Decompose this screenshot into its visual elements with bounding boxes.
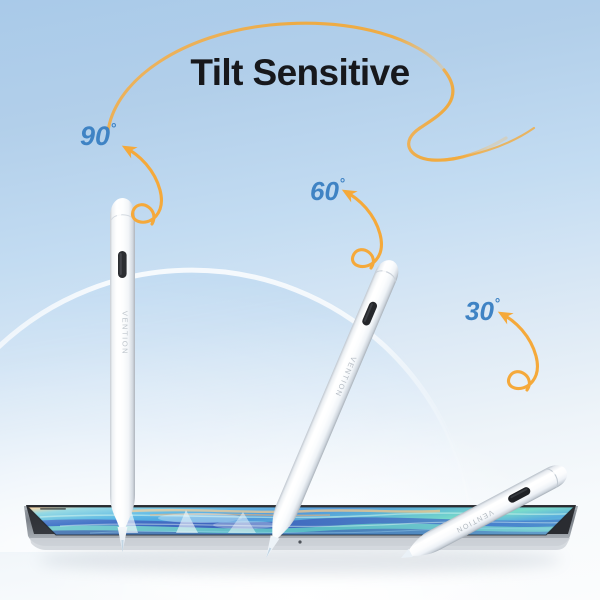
stylus-button-90 xyxy=(118,251,127,278)
front-camera-icon xyxy=(298,540,301,543)
angle-arrow-30 xyxy=(502,314,537,390)
product-marketing-scene: Tilt Sensitive 90° 60° 30° xyxy=(0,0,600,600)
degree-symbol-30: ° xyxy=(495,296,500,311)
angle-label-30: 30° xyxy=(465,298,499,324)
orange-swoosh-decoration xyxy=(0,0,600,200)
angle-value-60: 60 xyxy=(310,176,339,206)
degree-symbol-60: ° xyxy=(340,176,345,191)
angle-label-90: 90° xyxy=(80,123,116,150)
stylus-brand-90: VENTION xyxy=(121,311,130,355)
stylus-pen-90: VENTION xyxy=(103,195,143,560)
degree-symbol-90: ° xyxy=(111,120,117,136)
page-title: Tilt Sensitive xyxy=(0,52,600,94)
angle-label-60: 60° xyxy=(310,178,344,204)
angle-value-30: 30 xyxy=(465,296,494,326)
angle-value-90: 90 xyxy=(80,121,110,151)
